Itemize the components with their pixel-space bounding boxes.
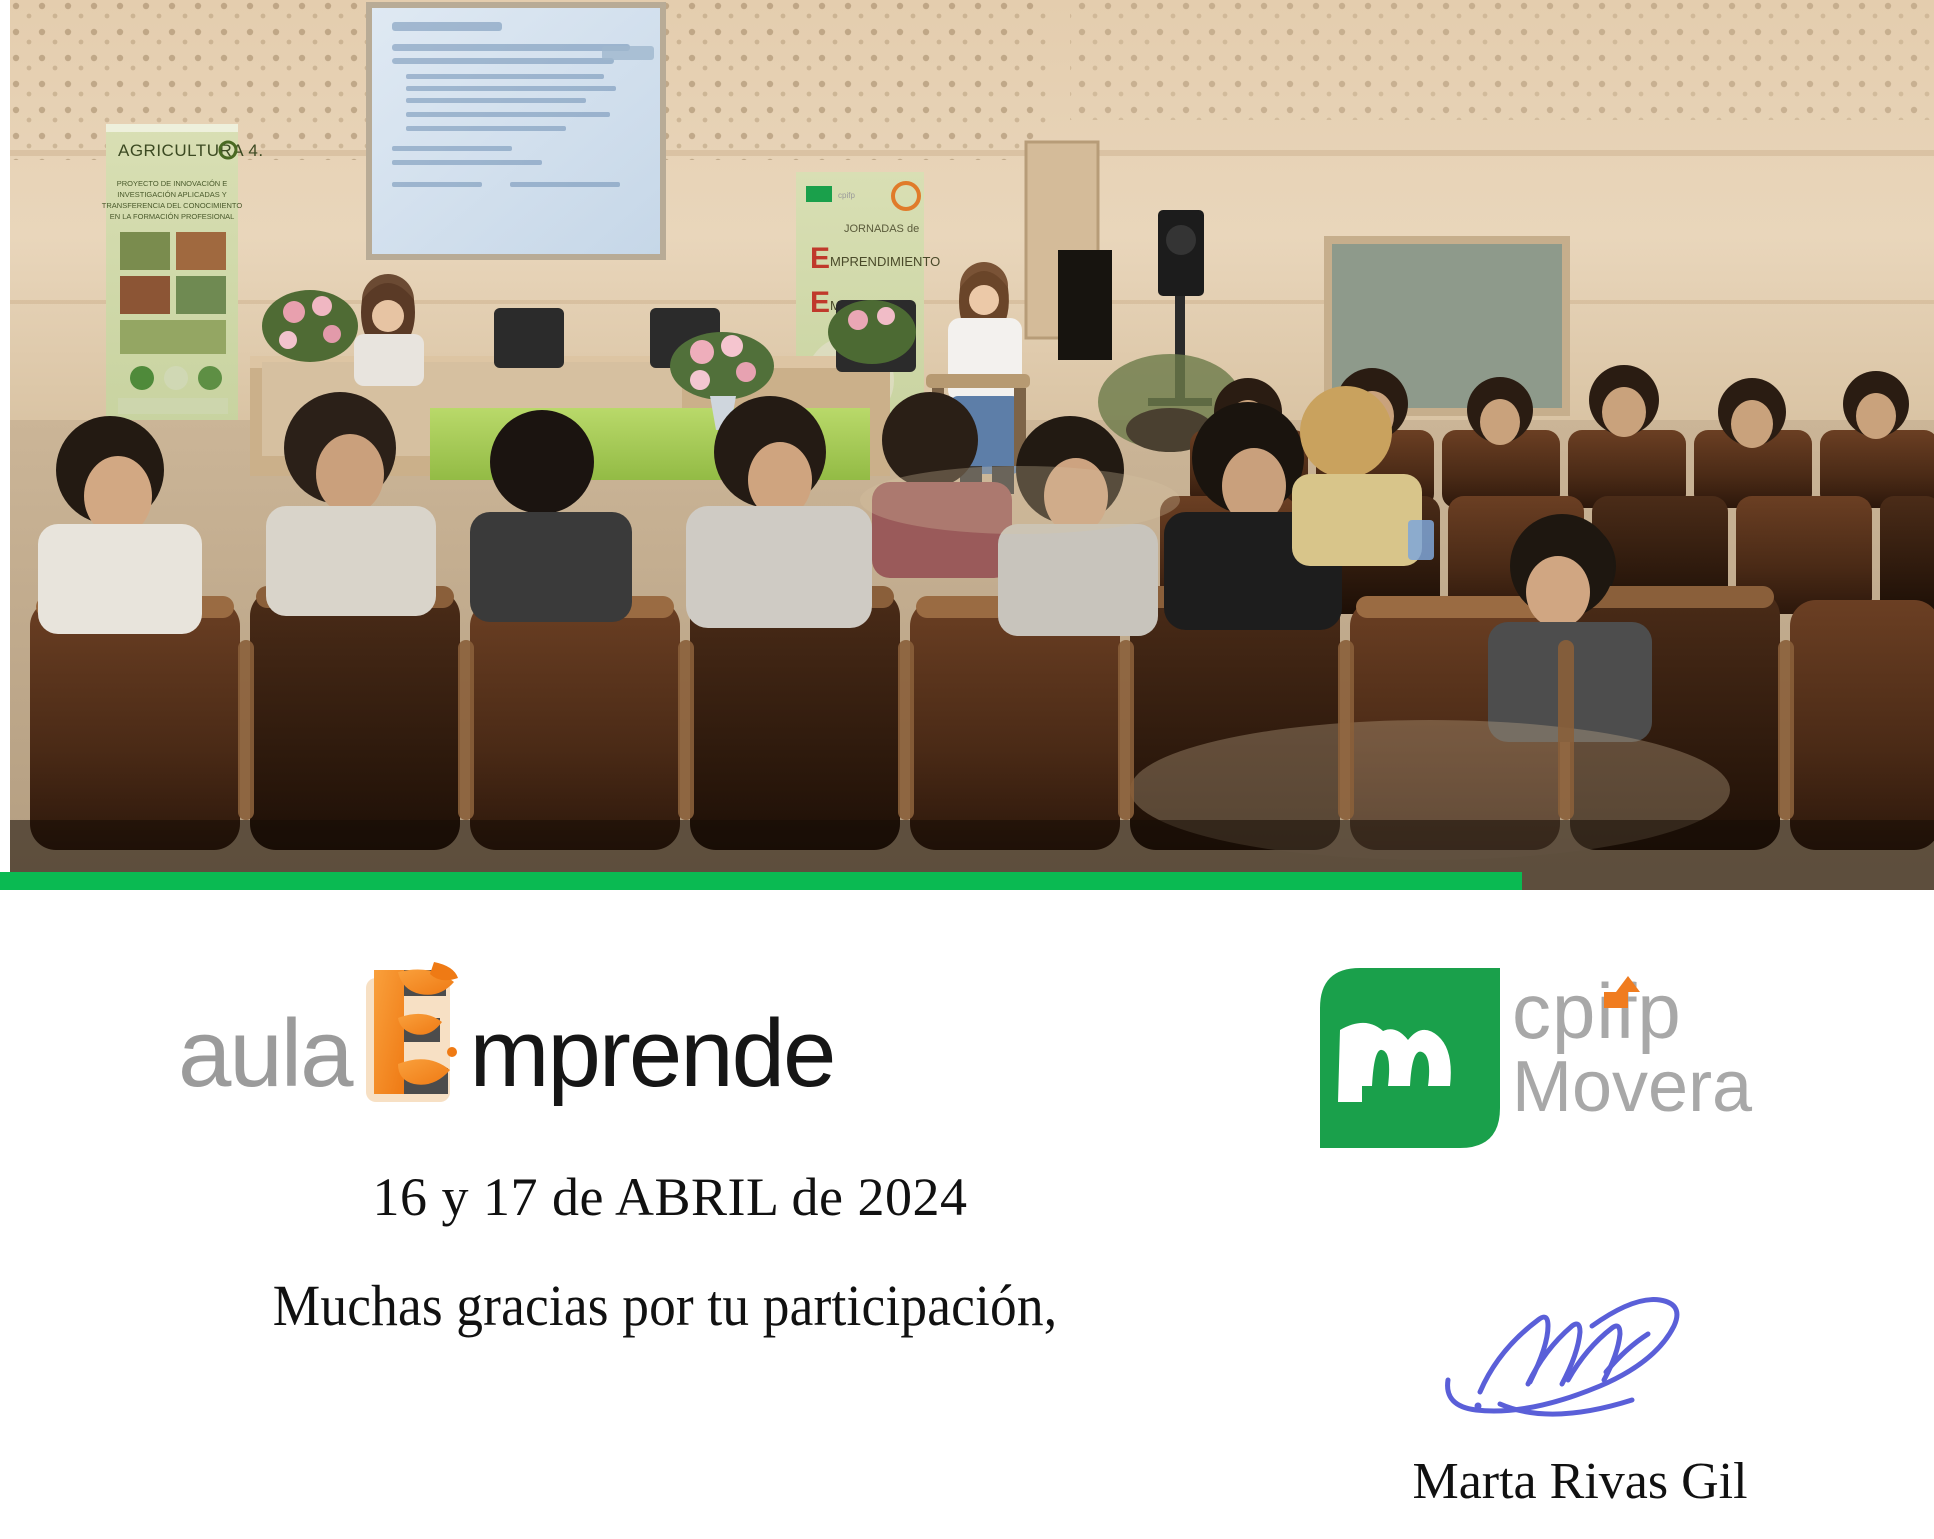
cpifp-m-glyph: [1320, 968, 1500, 1148]
svg-text:INVESTIGACIÓN APLICADAS Y: INVESTIGACIÓN APLICADAS Y: [117, 190, 226, 199]
signature-strokes: [1440, 1288, 1700, 1438]
event-photograph: AGRICULTURA 4. PROYECTO DE INNOVACIÓN E …: [10, 0, 1934, 890]
photo-illustration: AGRICULTURA 4. PROYECTO DE INNOVACIÓN E …: [10, 0, 1934, 890]
svg-text:MPRENDIMIENTO: MPRENDIMIENTO: [830, 254, 940, 269]
thank-you-line: Muchas gracias por tu participación,: [53, 1272, 1277, 1339]
svg-text:cpifp: cpifp: [838, 191, 855, 200]
svg-text:PROYECTO DE INNOVACIÓN E: PROYECTO DE INNOVACIÓN E: [117, 179, 228, 188]
cpifp-m-icon: [1320, 968, 1500, 1148]
signer-name: Marta Rivas Gil: [1320, 1452, 1840, 1511]
aula-logo-suffix: mprende: [470, 1006, 835, 1102]
emprende-e-glyph: [348, 960, 468, 1108]
house-roof-icon: [1616, 976, 1640, 992]
svg-text:AGRICULTURA 4.: AGRICULTURA 4.: [118, 141, 264, 160]
emprende-e-icon: [348, 960, 468, 1108]
cpifp-line1: cpifp: [1512, 967, 1682, 1055]
projection-screen: [366, 2, 666, 260]
flowers-left: [262, 290, 358, 362]
svg-text:TRANSFERENCIA DEL CONOCIMIENTO: TRANSFERENCIA DEL CONOCIMIENTO: [102, 201, 243, 210]
cpifp-line1-wrap: cpifp: [1512, 974, 1682, 1048]
event-date-line: 16 y 17 de ABRIL de 2024: [0, 1166, 1340, 1228]
aula-emprende-logo: aula mp: [178, 958, 834, 1108]
certificate-page: AGRICULTURA 4. PROYECTO DE INNOVACIÓN E …: [0, 0, 1934, 1539]
house-body-icon: [1604, 992, 1628, 1008]
aula-logo-prefix: aula: [178, 1006, 352, 1102]
handwritten-signature: [1440, 1288, 1700, 1438]
cpifp-movera-logo: cpifp Movera: [1320, 968, 1752, 1148]
svg-text:EN LA FORMACIÓN PROFESIONAL: EN LA FORMACIÓN PROFESIONAL: [110, 212, 235, 221]
cpifp-line2: Movera: [1512, 1050, 1752, 1126]
svg-text:E: E: [810, 286, 830, 319]
svg-text:JORNADAS de: JORNADAS de: [844, 223, 919, 235]
cpifp-wordmark: cpifp Movera: [1512, 968, 1752, 1126]
svg-text:E: E: [810, 242, 830, 275]
flowers-right: [828, 300, 916, 364]
